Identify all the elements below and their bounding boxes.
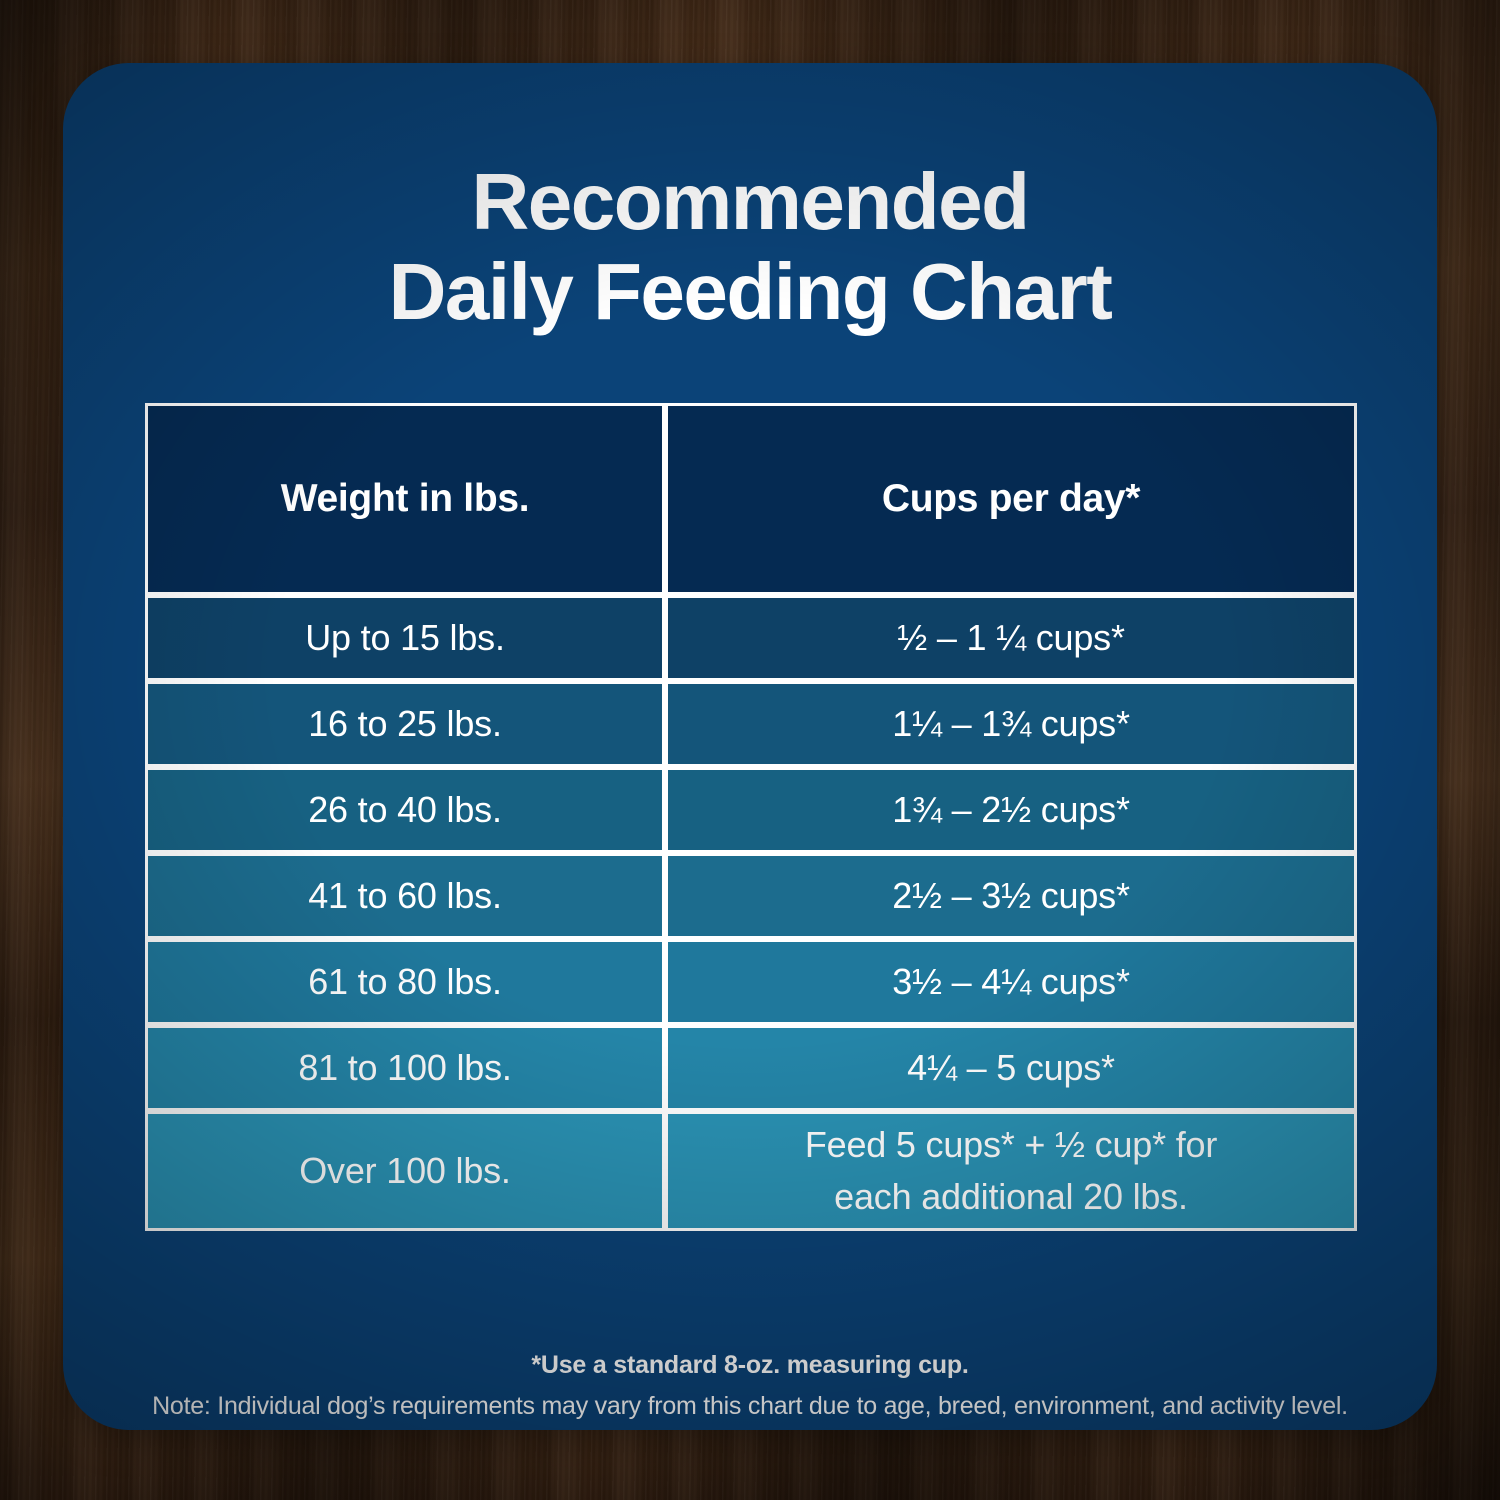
footnote-note-line-1: Note: Individual dog’s requirements may … bbox=[123, 1388, 1377, 1426]
cell-weight: 81 to 100 lbs. bbox=[145, 1025, 665, 1111]
cell-weight: 41 to 60 lbs. bbox=[145, 853, 665, 939]
cell-cups: 2½ – 3½ cups* bbox=[665, 853, 1357, 939]
cell-weight: 26 to 40 lbs. bbox=[145, 767, 665, 853]
title-line-1: Recommended bbox=[63, 163, 1437, 241]
cell-cups: Feed 5 cups* + ½ cup* for each additiona… bbox=[665, 1111, 1357, 1231]
cell-cups: ½ – 1 ¼ cups* bbox=[665, 595, 1357, 681]
cell-cups: 1¾ – 2½ cups* bbox=[665, 767, 1357, 853]
footnotes-block: *Use a standard 8-oz. measuring cup. Not… bbox=[123, 1351, 1377, 1430]
cell-weight: 61 to 80 lbs. bbox=[145, 939, 665, 1025]
cell-weight: Up to 15 lbs. bbox=[145, 595, 665, 681]
table-header-row: Weight in lbs. Cups per day* bbox=[145, 403, 1357, 595]
cell-cups: 1¼ – 1¾ cups* bbox=[665, 681, 1357, 767]
column-header-cups: Cups per day* bbox=[665, 403, 1357, 595]
page-title: Recommended Daily Feeding Chart bbox=[63, 163, 1437, 332]
footnote-note-line-2: Adjust food as required to maintain opti… bbox=[123, 1426, 1377, 1431]
table-row: 16 to 25 lbs. 1¼ – 1¾ cups* bbox=[145, 681, 1357, 767]
cell-cups-line-1: Feed 5 cups* + ½ cup* for bbox=[668, 1119, 1354, 1171]
cell-weight: 16 to 25 lbs. bbox=[145, 681, 665, 767]
feeding-table: Weight in lbs. Cups per day* Up to 15 lb… bbox=[145, 403, 1357, 1231]
column-header-weight: Weight in lbs. bbox=[145, 403, 665, 595]
cell-cups: 3½ – 4¼ cups* bbox=[665, 939, 1357, 1025]
cell-cups: 4¼ – 5 cups* bbox=[665, 1025, 1357, 1111]
table-row: Up to 15 lbs. ½ – 1 ¼ cups* bbox=[145, 595, 1357, 681]
feeding-chart-card: Recommended Daily Feeding Chart Weight i… bbox=[63, 63, 1437, 1430]
wood-background: Recommended Daily Feeding Chart Weight i… bbox=[0, 0, 1500, 1500]
table-row: 41 to 60 lbs. 2½ – 3½ cups* bbox=[145, 853, 1357, 939]
table-row: 26 to 40 lbs. 1¾ – 2½ cups* bbox=[145, 767, 1357, 853]
table-row: 61 to 80 lbs. 3½ – 4¼ cups* bbox=[145, 939, 1357, 1025]
table-row: 81 to 100 lbs. 4¼ – 5 cups* bbox=[145, 1025, 1357, 1111]
cell-weight: Over 100 lbs. bbox=[145, 1111, 665, 1231]
title-line-2: Daily Feeding Chart bbox=[63, 253, 1437, 331]
footnote-measuring-cup: *Use a standard 8-oz. measuring cup. bbox=[123, 1351, 1377, 1380]
table-row: Over 100 lbs. Feed 5 cups* + ½ cup* for … bbox=[145, 1111, 1357, 1231]
cell-cups-line-2: each additional 20 lbs. bbox=[668, 1171, 1354, 1223]
